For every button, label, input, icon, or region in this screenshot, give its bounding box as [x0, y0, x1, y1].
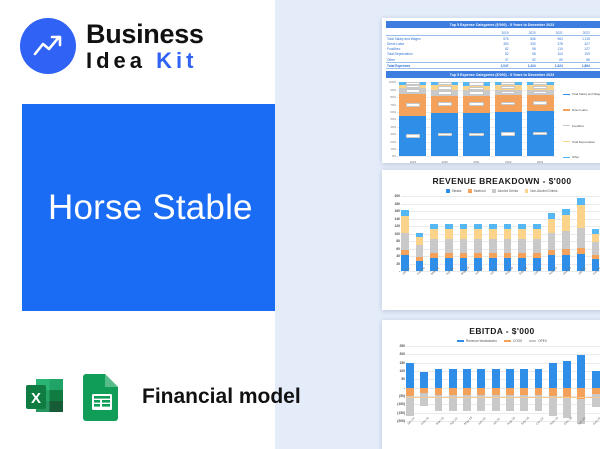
bar-segment-cogs [435, 388, 443, 395]
legend-label: Direct Labor [572, 108, 588, 112]
revenue-chart-legend: SteaksSeafoodAlcohol DrinksNon-Alcohol D… [388, 189, 600, 193]
legend-item[interactable]: Food/bev [563, 124, 600, 128]
bar-segment-cogs [535, 388, 543, 395]
bar-segment-cogs [520, 388, 528, 395]
expense-stacked-chart: 100%90%80%70%60%50%40%30%20%10%0% 201920… [386, 80, 600, 163]
bar-segment [592, 242, 600, 255]
bar-segment-revenue [435, 369, 443, 388]
bar-segment [431, 96, 458, 113]
bar-data-label [533, 91, 547, 94]
bar-segment-cogs [463, 388, 471, 395]
bar-data-label [438, 102, 452, 105]
bar-segment [562, 231, 570, 249]
format-footer: X Financial model [22, 372, 301, 422]
axis-tick-label: 100 [399, 369, 405, 373]
revenue-chart-y-axis: 20018016014012010080604020- [388, 196, 401, 271]
bar-segment [430, 229, 438, 240]
bar-segment [474, 239, 482, 253]
bar-segment [504, 239, 512, 253]
ebitda-bar-group [535, 346, 543, 421]
axis-tick-label: 100 [394, 232, 400, 236]
legend-label: Alcohol Drinks [498, 189, 518, 193]
legend-item[interactable]: Revenue breakdowns [457, 339, 497, 343]
ebitda-bar-group [477, 346, 485, 421]
stacked-bar [495, 82, 522, 156]
brand-idea-text: Idea [86, 48, 146, 73]
bar-segment-revenue [406, 363, 414, 388]
brand-logo: Business Idea Kit [20, 18, 204, 74]
bar-segment [430, 239, 438, 253]
bar-data-label [438, 133, 452, 136]
table-cell: 1,424 [510, 63, 537, 69]
axis-tick-label: 80 [396, 239, 400, 243]
legend-swatch [529, 340, 536, 342]
ebitda-chart-y-axis: 25020015010050-(50)(100)(150)(200) [388, 346, 406, 421]
legend-swatch [563, 109, 570, 110]
ebitda-bar-group [406, 346, 414, 421]
ebitda-bar-group [420, 346, 428, 421]
bar-segment [592, 234, 600, 242]
bar-segment [533, 229, 541, 240]
slide-canvas: Business Idea Kit Horse Stable X [0, 0, 600, 449]
revenue-chart-x-axis: Jan-19Feb-19Mar-19Apr-19May-19Jun-19Jul-… [401, 271, 600, 288]
axis-tick-label: 40 [396, 254, 400, 258]
bar-data-label [533, 86, 547, 89]
revenue-chart-title: REVENUE BREAKDOWN - $'000 [388, 176, 600, 186]
ebitda-bar-group [577, 346, 585, 421]
expense-chart-bars [397, 82, 556, 156]
axis-tick-label: 2023 [527, 160, 554, 163]
legend-item[interactable]: Total Depreciation [563, 140, 600, 144]
axis-tick-label: 180 [394, 202, 400, 206]
bar-segment-revenue [492, 369, 500, 388]
bar-segment-cogs [406, 388, 414, 397]
legend-label: Other [572, 155, 579, 159]
bar-segment [577, 198, 585, 206]
legend-item[interactable]: Steaks [446, 189, 461, 193]
bar-segment-opex [592, 394, 600, 408]
bar-segment [460, 229, 468, 240]
axis-tick-label: 80% [390, 95, 396, 99]
axis-tick-label: - [404, 386, 405, 390]
axis-tick-label: 2021 [463, 160, 490, 163]
ebitda-bar-group [506, 346, 514, 421]
bar-segment-cogs [492, 388, 500, 395]
axis-tick-label: 20 [396, 262, 400, 266]
bar-segment-opex [420, 393, 428, 406]
bar-segment [431, 113, 458, 157]
bar-segment-revenue [420, 372, 428, 387]
axis-tick-label: 10% [390, 147, 396, 151]
legend-item[interactable]: OPEX [529, 339, 547, 343]
axis-tick-label: (200) [397, 419, 405, 423]
ebitda-bar-group [592, 346, 600, 421]
legend-item[interactable]: Direct Labor [563, 108, 600, 112]
bar-segment [474, 229, 482, 240]
bar-segment [399, 94, 426, 115]
expense-table-title: Top 5 Expense Categories ($'000) - 5 Yea… [386, 21, 600, 28]
stacked-bar [504, 196, 512, 271]
stacked-bar [527, 82, 554, 156]
ebitda-card: EBITDA - $'000 Revenue breakdownsCOGSOPE… [382, 320, 600, 449]
bar-segment [577, 205, 585, 228]
stacked-bar [431, 82, 458, 156]
bar-segment-revenue [449, 369, 457, 388]
legend-item[interactable]: COGS [504, 339, 522, 343]
bar-segment-opex [549, 396, 557, 416]
legend-label: OPEX [538, 339, 547, 343]
axis-tick-label: 60% [390, 110, 396, 114]
stacked-bar [548, 196, 556, 271]
legend-label: Revenue breakdowns [466, 339, 497, 343]
axis-tick-label: 2022 [495, 160, 522, 163]
axis-tick-label: 160 [394, 209, 400, 213]
axis-tick-label: 250 [399, 344, 405, 348]
legend-label: Seafood [474, 189, 486, 193]
bar-segment-revenue [549, 363, 557, 388]
brand-kit-text: Kit [156, 48, 197, 73]
bar-segment-cogs [563, 388, 571, 397]
bar-data-label [501, 91, 515, 94]
brand-name-line1: Business [86, 21, 204, 48]
bar-segment-cogs [477, 388, 485, 395]
microsoft-excel-icon: X [22, 374, 68, 420]
ebitda-zero-line [406, 397, 600, 398]
stacked-bar [445, 196, 453, 271]
legend-item[interactable]: Seafood [468, 189, 485, 193]
stacked-bar [399, 82, 426, 156]
stacked-bar [592, 196, 600, 271]
bar-segment [463, 113, 490, 157]
growth-arrow-circle-icon [20, 18, 76, 74]
bar-data-label [501, 102, 515, 105]
ebitda-chart-x-axis: Jan-19Feb-19Mar-19Apr-19May-19Jun-19Jul-… [406, 421, 600, 438]
table-cell: 1,864 [564, 63, 591, 69]
bar-data-label [469, 133, 483, 136]
bar-segment-cogs [549, 388, 557, 397]
stacked-bar [463, 82, 490, 156]
axis-tick-label: 50% [390, 117, 396, 121]
bar-data-label [469, 87, 483, 90]
expense-chart-x-axis: 20192020202120222023 [397, 160, 556, 163]
axis-tick-label: (50) [399, 394, 405, 398]
legend-swatch [525, 189, 528, 192]
legend-label: COGS [513, 339, 522, 343]
bar-segment-revenue [477, 369, 485, 388]
bar-segment [445, 239, 453, 253]
legend-swatch [563, 141, 570, 142]
expense-chart-legend: Total Salary and WagesDirect LaborFood/b… [560, 80, 600, 163]
axis-tick-label: 2019 [399, 160, 426, 163]
ebitda-chart-legend: Revenue breakdownsCOGSOPEX [388, 339, 600, 343]
bar-segment-revenue [563, 361, 571, 388]
bar-segment-revenue [463, 369, 471, 388]
ebitda-bar-group [435, 346, 443, 421]
stacked-bar [460, 196, 468, 271]
bar-segment [495, 95, 522, 112]
legend-label: Total Salary and Wages [572, 92, 600, 96]
title-banner: Horse Stable [22, 104, 275, 311]
bar-segment [463, 96, 490, 113]
legend-swatch [563, 157, 570, 158]
table-row-label: Total Expenses [386, 63, 482, 69]
table-cell: 1,047 [482, 63, 509, 69]
expense-categories-card: Top 5 Expense Categories ($'000) - 5 Yea… [382, 18, 600, 163]
bar-segment-revenue [535, 369, 543, 388]
axis-tick-label: 50 [401, 377, 405, 381]
bar-data-label [501, 132, 515, 135]
stacked-bar [533, 196, 541, 271]
axis-tick-label: 60 [396, 247, 400, 251]
axis-tick-label: 30% [390, 132, 396, 136]
bar-segment [416, 237, 424, 245]
legend-swatch [457, 340, 464, 342]
bar-segment [445, 229, 453, 240]
axis-tick-label: (100) [397, 402, 405, 406]
bar-segment-revenue [592, 371, 600, 388]
axis-tick-label: 70% [390, 103, 396, 107]
axis-tick-label: 0% [392, 154, 396, 158]
revenue-chart-plot: 20018016014012010080604020- Jan-19Feb-19… [388, 196, 600, 288]
legend-swatch [504, 340, 511, 342]
ebitda-bar-group [449, 346, 457, 421]
ebitda-bar-group [492, 346, 500, 421]
bar-segment [489, 239, 497, 253]
bar-segment [495, 112, 522, 156]
bar-data-label [406, 134, 420, 137]
bar-segment [489, 229, 497, 240]
bar-data-label [469, 102, 483, 105]
bar-data-label [438, 91, 452, 94]
legend-label: Steaks [452, 189, 462, 193]
legend-item[interactable]: Total Salary and Wages [563, 92, 600, 96]
legend-swatch [563, 94, 570, 95]
legend-item[interactable]: Other [563, 155, 600, 159]
google-sheets-icon [81, 372, 123, 422]
legend-label: Food/bev [572, 124, 584, 128]
bar-segment [577, 228, 585, 248]
legend-swatch [446, 189, 449, 192]
legend-label: Total Depreciation [572, 140, 595, 144]
stacked-bar [518, 196, 526, 271]
legend-item[interactable]: Non-Alcohol Drinks [525, 189, 557, 193]
ebitda-chart-title: EBITDA - $'000 [388, 326, 600, 336]
axis-tick-label: 100% [389, 80, 396, 84]
bar-segment [527, 95, 554, 111]
axis-tick-label: 20% [390, 140, 396, 144]
svg-text:X: X [31, 390, 41, 407]
axis-tick-label: 2020 [431, 160, 458, 163]
bar-segment-cogs [506, 388, 514, 395]
bar-data-label [501, 86, 515, 89]
table-row: Total Expenses1,0471,4241,6241,8642,028 [386, 63, 600, 69]
legend-swatch [468, 189, 471, 192]
bar-segment [518, 239, 526, 253]
bar-segment [548, 219, 556, 233]
legend-label: Non-Alcohol Drinks [530, 189, 557, 193]
axis-tick-label: 120 [394, 224, 400, 228]
bar-segment [518, 229, 526, 240]
legend-swatch [563, 125, 570, 126]
stacked-bar [401, 196, 409, 271]
stacked-bar [416, 196, 424, 271]
revenue-chart-bars [401, 196, 600, 271]
bar-segment [401, 216, 409, 233]
bar-segment [416, 245, 424, 257]
bar-segment-opex [406, 396, 414, 416]
bar-data-label [533, 132, 547, 135]
ebitda-chart-plot: 25020015010050-(50)(100)(150)(200) Jan-1… [388, 346, 600, 438]
revenue-breakdown-card: REVENUE BREAKDOWN - $'000 SteaksSeafoodA… [382, 170, 600, 310]
axis-tick-label: 200 [399, 352, 405, 356]
bar-data-label [406, 103, 420, 106]
bar-data-label [438, 86, 452, 89]
stacked-bar [430, 196, 438, 271]
axis-tick-label: 90% [390, 88, 396, 92]
bar-data-label [469, 91, 483, 94]
axis-tick-label: 200 [394, 194, 400, 198]
bar-segment [548, 233, 556, 250]
expense-chart-title: Top 5 Expense Categories ($'000) - 5 Yea… [386, 71, 600, 78]
bar-segment-revenue [520, 369, 528, 388]
bar-segment [533, 239, 541, 253]
table-cell: 1,624 [537, 63, 564, 69]
axis-tick-label: 140 [394, 217, 400, 221]
bar-segment-cogs [449, 388, 457, 395]
legend-item[interactable]: Alcohol Drinks [492, 189, 518, 193]
brand-name-line2: Idea Kit [86, 50, 204, 72]
ebitda-bar-group [563, 346, 571, 421]
legend-swatch [492, 189, 495, 192]
bar-data-label [406, 89, 420, 92]
stacked-bar [489, 196, 497, 271]
ebitda-chart-bars [406, 346, 600, 421]
bar-segment [504, 229, 512, 240]
stacked-bar [562, 196, 570, 271]
stacked-bar [474, 196, 482, 271]
bar-segment [527, 111, 554, 156]
expense-table: 20192020202120222023Total Salary and Wag… [386, 30, 600, 69]
axis-tick-label: 40% [390, 125, 396, 129]
bar-data-label [533, 101, 547, 104]
bar-segment-revenue [577, 355, 585, 388]
bar-segment [399, 116, 426, 157]
bar-segment [460, 239, 468, 253]
ebitda-bar-group [520, 346, 528, 421]
axis-tick-label: (150) [397, 411, 405, 415]
page-title: Horse Stable [22, 188, 253, 228]
ebitda-bar-group [549, 346, 557, 421]
expense-chart-y-axis: 100%90%80%70%60%50%40%30%20%10%0% [386, 82, 396, 156]
axis-tick-label: 150 [399, 361, 405, 365]
bar-segment [562, 215, 570, 231]
table-cell: 2,028 [591, 63, 600, 69]
stacked-bar [577, 196, 585, 271]
bar-segment [401, 233, 409, 250]
ebitda-bar-group [463, 346, 471, 421]
bar-segment-revenue [506, 369, 514, 388]
financial-model-label: Financial model [142, 385, 301, 409]
